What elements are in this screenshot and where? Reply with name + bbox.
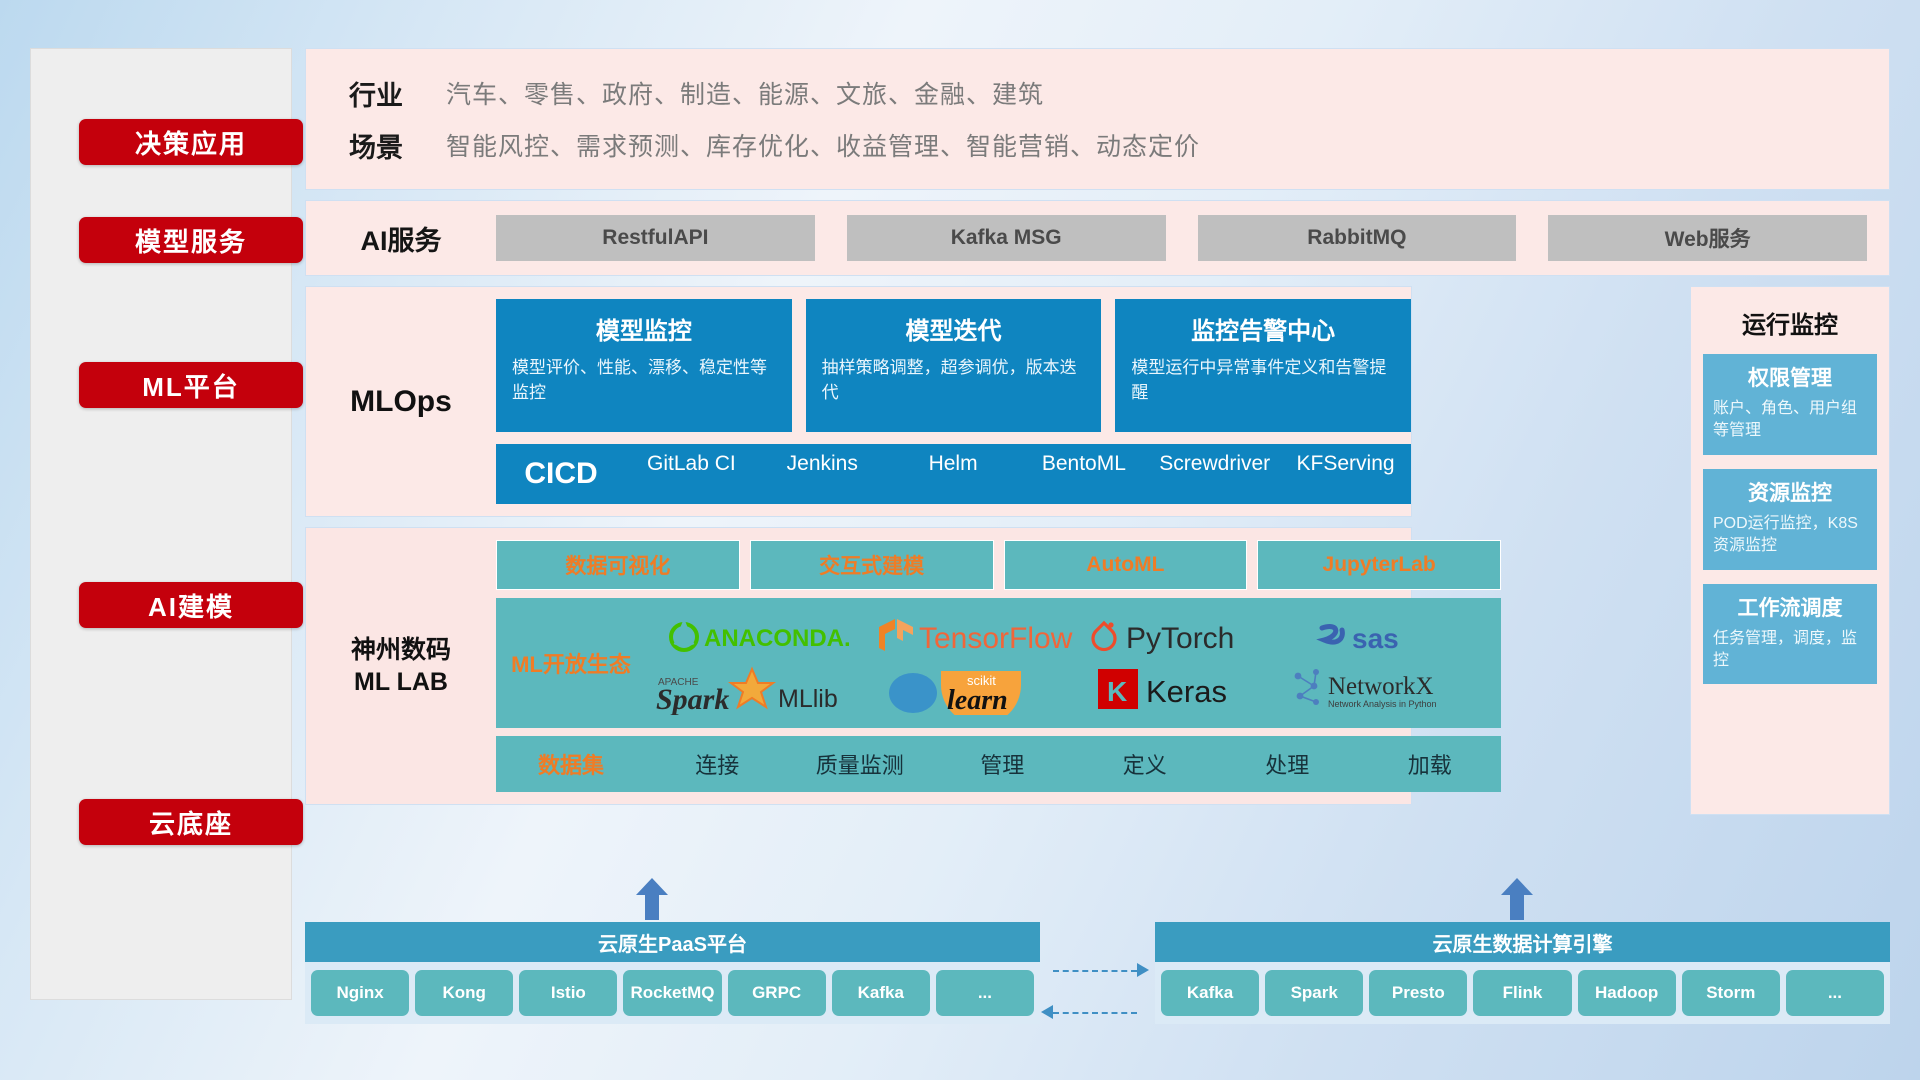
- cicd-item-gitlab-ci[interactable]: GitLab CI: [626, 452, 757, 496]
- ai-service-item-restfulapi[interactable]: RestfulAPI: [496, 215, 815, 261]
- cicd-bar: CICD GitLab CI Jenkins Helm BentoML Scre…: [496, 444, 1411, 504]
- svg-text:Network Analysis in Python: Network Analysis in Python: [1328, 699, 1437, 709]
- cloud-foundation-section: 云原生PaaS平台 Nginx Kong Istio RocketMQ GRPC…: [305, 900, 1890, 1030]
- ml-ecosystem-label: ML开放生态: [496, 647, 646, 679]
- connector-right-arrowhead: [1137, 963, 1149, 977]
- connector-right-line: [1053, 970, 1137, 972]
- dataset-item-define[interactable]: 定义: [1074, 748, 1217, 780]
- dataset-item-manage[interactable]: 管理: [931, 748, 1074, 780]
- compute-chip-presto[interactable]: Presto: [1369, 970, 1467, 1016]
- ml-ecosystem-panel: ML开放生态 ANACONDA.: [496, 598, 1501, 728]
- dataset-row: 数据集 连接 质量监测 管理 定义 处理 加载: [496, 736, 1501, 792]
- dataset-item-connect[interactable]: 连接: [646, 748, 789, 780]
- rail-tag-ai-modeling[interactable]: AI建模: [79, 582, 303, 628]
- cloud-chip-nginx[interactable]: Nginx: [311, 970, 409, 1016]
- dataset-label: 数据集: [496, 748, 646, 780]
- cicd-label: CICD: [496, 457, 626, 491]
- cloud-chip-more[interactable]: ...: [936, 970, 1034, 1016]
- rail-tag-cloud-base[interactable]: 云底座: [79, 799, 303, 845]
- mlops-card-title: 模型监控: [512, 311, 776, 346]
- cloud-compute-title: 云原生数据计算引擎: [1155, 922, 1890, 962]
- mlops-card-desc: 抽样策略调整，超参调优，版本迭代: [822, 356, 1086, 405]
- lab-tab-jupyterlab[interactable]: JupyterLab: [1257, 540, 1501, 590]
- cloud-compute-panel: 云原生数据计算引擎 Kafka Spark Presto Flink Hadoo…: [1155, 922, 1890, 1024]
- ml-lab-label-line2: ML LAB: [306, 666, 496, 699]
- platform-row: MLOps 模型监控 模型评价、性能、漂移、稳定性等监控 模型迭代 抽样策略调整…: [305, 286, 1890, 815]
- scenario-value-industry: 汽车、零售、政府、制造、能源、文旅、金融、建筑: [446, 75, 1044, 111]
- mlops-card-model-monitoring[interactable]: 模型监控 模型评价、性能、漂移、稳定性等监控: [496, 299, 792, 432]
- cicd-item-screwdriver[interactable]: Screwdriver: [1149, 452, 1280, 496]
- mlops-card-title: 模型迭代: [822, 311, 1086, 346]
- monitoring-card-desc: POD运行监控，K8S资源监控: [1713, 513, 1867, 558]
- svg-text:Spark: Spark: [656, 683, 729, 715]
- cloud-chip-istio[interactable]: Istio: [519, 970, 617, 1016]
- svg-text:learn: learn: [947, 685, 1008, 715]
- rail-tag-ml-platform[interactable]: ML平台: [79, 362, 303, 408]
- lab-tab-automl[interactable]: AutoML: [1004, 540, 1248, 590]
- monitoring-card-desc: 账户、角色、用户组等管理: [1713, 398, 1867, 443]
- ai-service-label: AI服务: [306, 219, 496, 258]
- monitoring-card-workflow[interactable]: 工作流调度 任务管理，调度，监控: [1703, 584, 1877, 685]
- spark-mllib-logo: APACHE Spark MLlib: [656, 663, 871, 715]
- dataset-item-process[interactable]: 处理: [1216, 748, 1359, 780]
- arrow-up-compute-icon: [1500, 878, 1534, 920]
- compute-chip-more[interactable]: ...: [1786, 970, 1884, 1016]
- svg-text:Keras: Keras: [1146, 674, 1227, 709]
- mlops-label: MLOps: [306, 385, 496, 419]
- compute-chip-hadoop[interactable]: Hadoop: [1578, 970, 1676, 1016]
- scikit-learn-logo: scikit learn: [881, 663, 1076, 715]
- monitoring-card-title: 资源监控: [1713, 477, 1867, 507]
- cloud-paas-title: 云原生PaaS平台: [305, 922, 1040, 962]
- ml-lab-label-line1: 神州数码: [306, 634, 496, 667]
- monitoring-card-permission[interactable]: 权限管理 账户、角色、用户组等管理: [1703, 354, 1877, 455]
- rail-tag-model-service[interactable]: 模型服务: [79, 217, 303, 263]
- svg-text:PyTorch: PyTorch: [1126, 622, 1234, 655]
- ml-lab-band: 神州数码 ML LAB 数据可视化 交互式建模 AutoML JupyterLa…: [305, 527, 1412, 805]
- mlops-card-alert-center[interactable]: 监控告警中心 模型运行中异常事件定义和告警提醒: [1115, 299, 1411, 432]
- ai-service-band: AI服务 RestfulAPI Kafka MSG RabbitMQ Web服务: [305, 200, 1890, 276]
- cloud-chip-grpc[interactable]: GRPC: [728, 970, 826, 1016]
- mlops-card-desc: 模型运行中异常事件定义和告警提醒: [1131, 356, 1395, 405]
- compute-chip-kafka[interactable]: Kafka: [1161, 970, 1259, 1016]
- mlops-band: MLOps 模型监控 模型评价、性能、漂移、稳定性等监控 模型迭代 抽样策略调整…: [305, 286, 1412, 517]
- cicd-item-kfserving[interactable]: KFServing: [1280, 452, 1411, 496]
- cloud-chip-kafka[interactable]: Kafka: [832, 970, 930, 1016]
- cicd-item-helm[interactable]: Helm: [888, 452, 1019, 496]
- pytorch-logo: PyTorch: [1086, 615, 1286, 659]
- anaconda-logo: ANACONDA.: [664, 617, 864, 657]
- ai-service-item-kafka-msg[interactable]: Kafka MSG: [847, 215, 1166, 261]
- arrow-up-paas-icon: [635, 878, 669, 920]
- cloud-chip-kong[interactable]: Kong: [415, 970, 513, 1016]
- connector-left-arrowhead: [1041, 1005, 1053, 1019]
- lab-tab-data-visualization[interactable]: 数据可视化: [496, 540, 740, 590]
- monitoring-card-title: 权限管理: [1713, 362, 1867, 392]
- mlops-card-title: 监控告警中心: [1131, 311, 1395, 346]
- svg-text:TensorFlow: TensorFlow: [919, 622, 1073, 655]
- scenario-value-usecase: 智能风控、需求预测、库存优化、收益管理、智能营销、动态定价: [446, 127, 1200, 163]
- monitoring-card-desc: 任务管理，调度，监控: [1713, 628, 1867, 673]
- svg-text:sas: sas: [1352, 623, 1399, 654]
- lab-tab-interactive-modeling[interactable]: 交互式建模: [750, 540, 994, 590]
- rail-tag-decision-app[interactable]: 决策应用: [79, 119, 303, 165]
- mlops-card-model-iteration[interactable]: 模型迭代 抽样策略调整，超参调优，版本迭代: [806, 299, 1102, 432]
- compute-chip-spark[interactable]: Spark: [1265, 970, 1363, 1016]
- monitoring-title: 运行监控: [1703, 305, 1877, 340]
- cicd-item-bentoml[interactable]: BentoML: [1018, 452, 1149, 496]
- dataset-item-quality[interactable]: 质量监测: [789, 748, 932, 780]
- diagram-canvas: 决策应用 模型服务 ML平台 AI建模 云底座 行业 汽车、零售、政府、制造、能…: [0, 0, 1920, 1080]
- scenario-band: 行业 汽车、零售、政府、制造、能源、文旅、金融、建筑 场景 智能风控、需求预测、…: [305, 48, 1890, 190]
- monitoring-card-resource[interactable]: 资源监控 POD运行监控，K8S资源监控: [1703, 469, 1877, 570]
- networkx-logo: NetworkX Network Analysis in Python: [1286, 664, 1491, 714]
- ai-service-item-rabbitmq[interactable]: RabbitMQ: [1198, 215, 1517, 261]
- svg-text:K: K: [1107, 676, 1127, 707]
- scenario-row-industry: 行业 汽车、零售、政府、制造、能源、文旅、金融、建筑: [306, 67, 1889, 119]
- ai-service-item-web[interactable]: Web服务: [1548, 215, 1867, 261]
- cicd-item-jenkins[interactable]: Jenkins: [757, 452, 888, 496]
- dataset-item-load[interactable]: 加载: [1359, 748, 1502, 780]
- cloud-chip-rocketmq[interactable]: RocketMQ: [623, 970, 721, 1016]
- svg-text:NetworkX: NetworkX: [1328, 673, 1434, 700]
- left-rail: 决策应用 模型服务 ML平台 AI建模 云底座: [30, 48, 292, 1000]
- scenario-key-industry: 行业: [306, 74, 446, 113]
- sas-logo: sas: [1314, 616, 1464, 658]
- monitoring-card-title: 工作流调度: [1713, 592, 1867, 622]
- cloud-paas-panel: 云原生PaaS平台 Nginx Kong Istio RocketMQ GRPC…: [305, 922, 1040, 1024]
- compute-chip-flink[interactable]: Flink: [1473, 970, 1571, 1016]
- connector-left-line: [1053, 1012, 1137, 1014]
- main-column: 行业 汽车、零售、政府、制造、能源、文旅、金融、建筑 场景 智能风控、需求预测、…: [305, 48, 1890, 815]
- tensorflow-logo: TensorFlow: [871, 615, 1086, 659]
- keras-logo: K Keras: [1096, 665, 1276, 713]
- ml-lab-label: 神州数码 ML LAB: [306, 634, 496, 699]
- mlops-card-desc: 模型评价、性能、漂移、稳定性等监控: [512, 356, 776, 405]
- monitoring-panel: 运行监控 权限管理 账户、角色、用户组等管理 资源监控 POD运行监控，K8S资…: [1690, 286, 1890, 815]
- scenario-key-usecase: 场景: [306, 126, 446, 165]
- compute-chip-storm[interactable]: Storm: [1682, 970, 1780, 1016]
- scenario-row-usecase: 场景 智能风控、需求预测、库存优化、收益管理、智能营销、动态定价: [306, 119, 1889, 171]
- svg-text:ANACONDA.: ANACONDA.: [704, 625, 851, 652]
- svg-text:MLlib: MLlib: [778, 685, 838, 713]
